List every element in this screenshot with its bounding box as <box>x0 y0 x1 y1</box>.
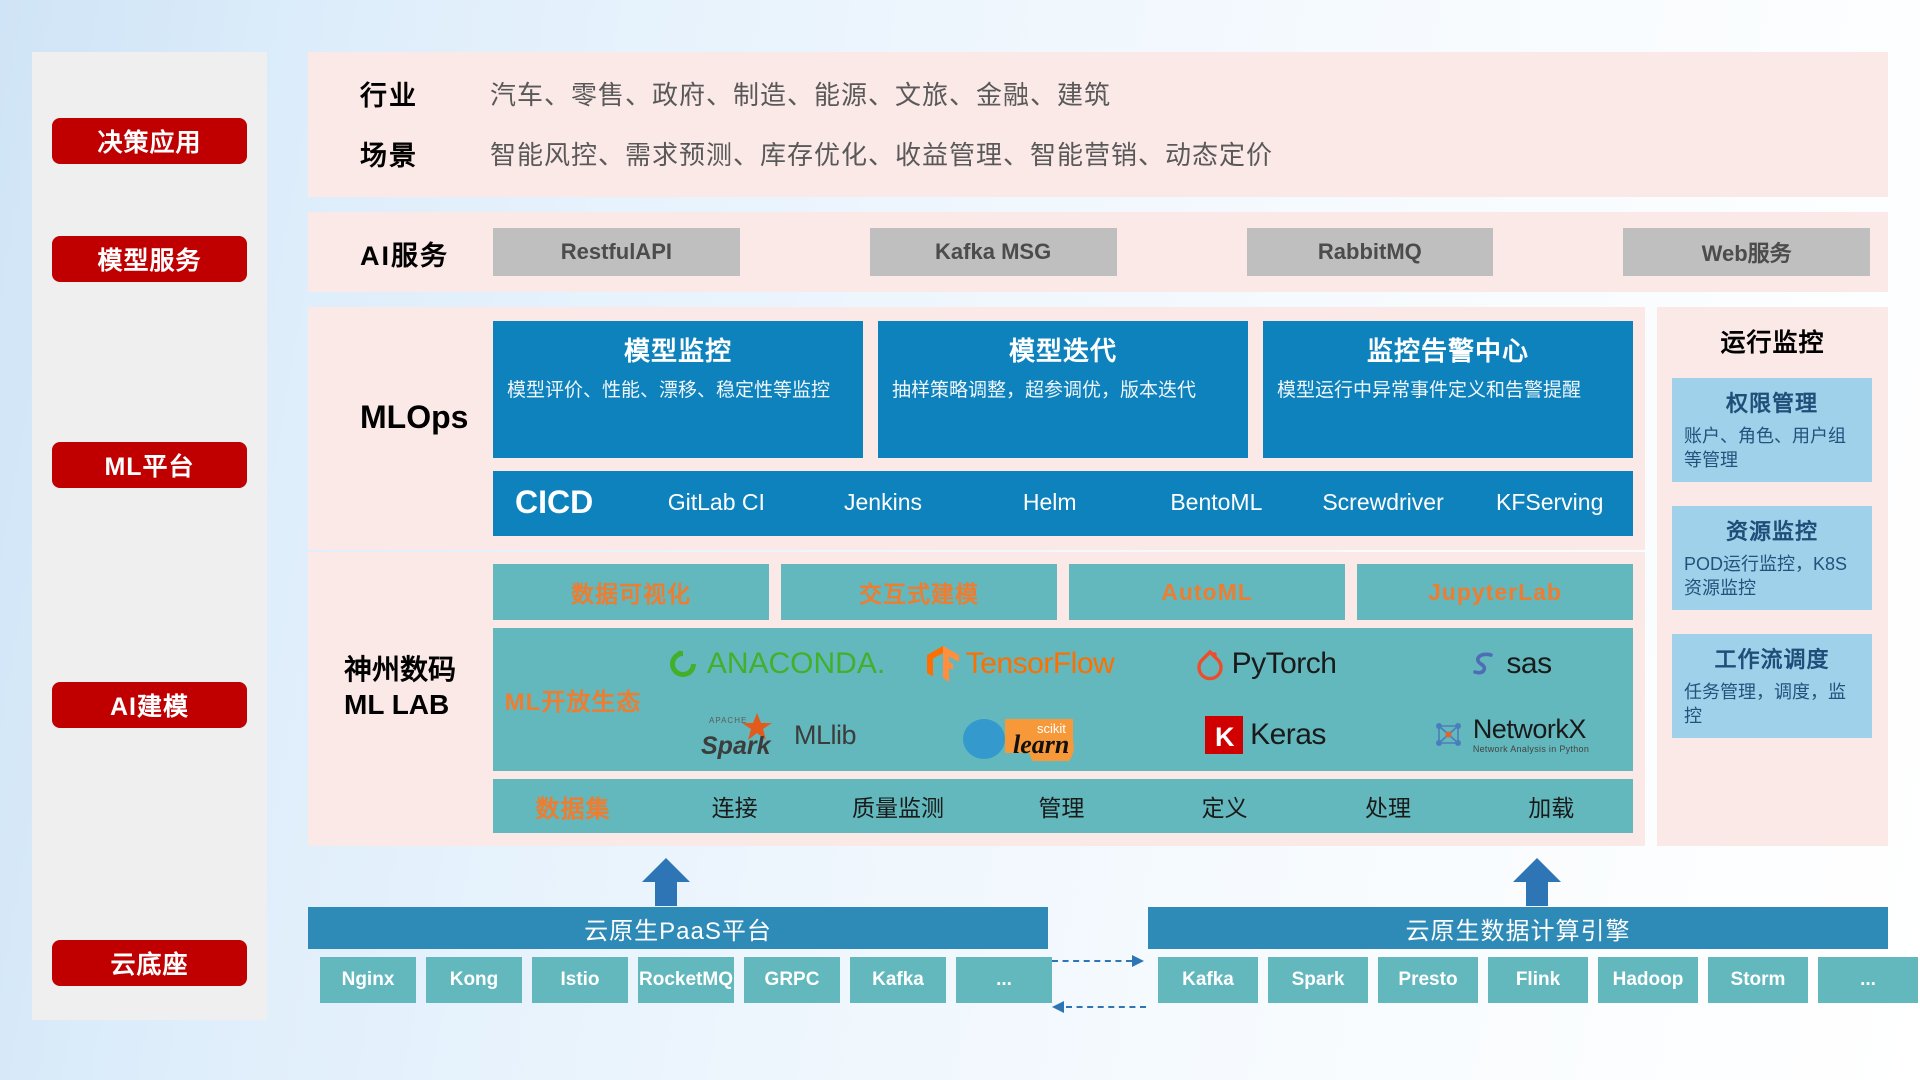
layer-label-text: 决策应用 <box>97 123 201 159</box>
data-compute-engine-bar[interactable]: 云原生数据计算引擎 <box>1148 907 1888 949</box>
monitor-card-resource[interactable]: 资源监控 POD运行监控，K8S资源监控 <box>1672 506 1872 610</box>
ml-lab-key: 神州数码 ML LAB <box>344 652 456 722</box>
dashed-arrow-head-right-icon <box>1132 955 1144 967</box>
monitor-card-desc: 任务管理，调度，监控 <box>1684 680 1860 729</box>
ai-service-box[interactable]: RestfulAPI <box>493 228 740 276</box>
upward-arrow-paas <box>642 858 690 906</box>
mlops-card-title: 模型监控 <box>507 331 849 368</box>
sas-icon <box>1469 649 1499 679</box>
layer-label-text: ML平台 <box>104 447 194 483</box>
ai-service-box[interactable]: Web服务 <box>1623 228 1870 276</box>
left-label-column: 决策应用 模型服务 ML平台 AI建模 云底座 <box>32 52 267 1020</box>
scenario-key: 场景 <box>360 134 490 173</box>
cicd-item[interactable]: KFServing <box>1466 471 1633 533</box>
networkx-icon <box>1432 718 1466 752</box>
cicd-label: CICD <box>493 471 633 533</box>
tool-box[interactable]: 交互式建模 <box>781 564 1057 620</box>
dataset-label: 数据集 <box>493 789 653 824</box>
engine-chip[interactable]: Storm <box>1708 957 1808 1003</box>
paas-chip[interactable]: RocketMQ <box>638 957 734 1003</box>
industry-line: 行业 汽车、零售、政府、制造、能源、文旅、金融、建筑 <box>360 74 1111 113</box>
engine-chip[interactable]: Kafka <box>1158 957 1258 1003</box>
engine-chip[interactable]: Spark <box>1268 957 1368 1003</box>
paas-chip[interactable]: GRPC <box>744 957 840 1003</box>
diagram-root: 决策应用 模型服务 ML平台 AI建模 云底座 行业 汽车、零售、政府、制造、能… <box>0 0 1920 1080</box>
paas-chip[interactable]: Kafka <box>850 957 946 1003</box>
dataset-item[interactable]: 处理 <box>1306 789 1469 823</box>
ai-service-panel: AI服务 RestfulAPI Kafka MSG RabbitMQ Web服务 <box>308 212 1888 292</box>
mlops-card-desc: 抽样策略调整，超参调优，版本迭代 <box>892 378 1234 404</box>
mlops-panel: MLOps 模型监控 模型评价、性能、漂移、稳定性等监控 模型迭代 抽样策略调整… <box>308 307 1645 550</box>
dashed-line-left <box>1066 1006 1146 1008</box>
engine-chip[interactable]: Hadoop <box>1598 957 1698 1003</box>
monitor-card-desc: POD运行监控，K8S资源监控 <box>1684 552 1860 601</box>
engine-chip[interactable]: Flink <box>1488 957 1588 1003</box>
pytorch-icon <box>1195 647 1225 681</box>
keras-icon: K <box>1205 716 1243 754</box>
cicd-bar: CICD GitLab CI Jenkins Helm BentoML Scre… <box>493 471 1633 536</box>
arrow-stem <box>655 878 677 906</box>
pytorch-logo-text: PyTorch <box>1232 647 1337 681</box>
arrow-stem <box>1526 878 1548 906</box>
cicd-item[interactable]: GitLab CI <box>633 471 800 533</box>
paas-chip[interactable]: ... <box>956 957 1052 1003</box>
paas-chip[interactable]: Nginx <box>320 957 416 1003</box>
ai-service-box[interactable]: RabbitMQ <box>1247 228 1494 276</box>
scenario-value: 智能风控、需求预测、库存优化、收益管理、智能营销、动态定价 <box>490 135 1273 172</box>
cicd-item[interactable]: Jenkins <box>800 471 967 533</box>
runtime-monitor-panel: 运行监控 权限管理 账户、角色、用户组等管理 资源监控 POD运行监控，K8S资… <box>1657 307 1888 846</box>
ai-service-box[interactable]: Kafka MSG <box>870 228 1117 276</box>
tensorflow-icon <box>927 646 959 682</box>
paas-chip-list: Nginx Kong Istio RocketMQ GRPC Kafka ... <box>320 957 1052 1003</box>
scikit-learn-logo: scikit learn <box>961 709 1081 761</box>
layer-label-cloud-base[interactable]: 云底座 <box>52 940 247 986</box>
monitor-card-permission[interactable]: 权限管理 账户、角色、用户组等管理 <box>1672 378 1872 482</box>
engine-chip-list: Kafka Spark Presto Flink Hadoop Storm ..… <box>1158 957 1918 1003</box>
sas-logo-text: sas <box>1506 647 1551 681</box>
industry-value: 汽车、零售、政府、制造、能源、文旅、金融、建筑 <box>490 75 1111 112</box>
ml-lab-panel: 神州数码 ML LAB 数据可视化 交互式建模 AutoML JupyterLa… <box>308 552 1645 846</box>
paas-chip[interactable]: Istio <box>532 957 628 1003</box>
dashed-arrow-head-left-icon <box>1052 1001 1064 1013</box>
monitor-card-workflow[interactable]: 工作流调度 任务管理，调度，监控 <box>1672 634 1872 738</box>
layer-label-ml-platform[interactable]: ML平台 <box>52 442 247 488</box>
ml-lab-key-line2: ML LAB <box>344 687 456 722</box>
networkx-logo-subtext: Network Analysis in Python <box>1473 745 1589 754</box>
dataset-item[interactable]: 连接 <box>653 789 816 823</box>
engine-chip[interactable]: ... <box>1818 957 1918 1003</box>
mlops-card-list: 模型监控 模型评价、性能、漂移、稳定性等监控 模型迭代 抽样策略调整，超参调优，… <box>493 321 1633 458</box>
svg-text:learn: learn <box>1013 730 1069 759</box>
dataset-item[interactable]: 加载 <box>1470 789 1633 823</box>
mlops-card[interactable]: 模型迭代 抽样策略调整，超参调优，版本迭代 <box>878 321 1248 458</box>
monitor-card-desc: 账户、角色、用户组等管理 <box>1684 424 1860 473</box>
layer-label-text: 模型服务 <box>97 241 201 277</box>
cicd-item[interactable]: Screwdriver <box>1300 471 1467 533</box>
networkx-logo-text: NetworkX <box>1473 716 1589 743</box>
monitor-card-title: 资源监控 <box>1684 514 1860 546</box>
ai-service-box-list: RestfulAPI Kafka MSG RabbitMQ Web服务 <box>493 228 1870 276</box>
layer-label-text: 云底座 <box>110 945 188 981</box>
ml-lab-key-line1: 神州数码 <box>344 652 456 687</box>
ml-lab-tool-list: 数据可视化 交互式建模 AutoML JupyterLab <box>493 564 1633 620</box>
layer-label-decision-app[interactable]: 决策应用 <box>52 118 247 164</box>
keras-logo-text: Keras <box>1250 718 1326 752</box>
engine-chip[interactable]: Presto <box>1378 957 1478 1003</box>
mlops-key: MLOps <box>360 399 468 436</box>
monitor-card-title: 工作流调度 <box>1684 642 1860 674</box>
monitor-card-title: 权限管理 <box>1684 386 1860 418</box>
layer-label-text: AI建模 <box>110 687 189 723</box>
ml-ecosystem-label: ML开放生态 <box>493 682 653 717</box>
dataset-bar: 数据集 连接 质量监测 管理 定义 处理 加载 <box>493 779 1633 833</box>
dataset-item[interactable]: 定义 <box>1143 789 1306 823</box>
mlops-card[interactable]: 模型监控 模型评价、性能、漂移、稳定性等监控 <box>493 321 863 458</box>
scenario-line: 场景 智能风控、需求预测、库存优化、收益管理、智能营销、动态定价 <box>360 134 1273 173</box>
tool-box[interactable]: AutoML <box>1069 564 1345 620</box>
runtime-monitor-title: 运行监控 <box>1657 307 1888 359</box>
anaconda-logo: ANACONDA. <box>666 647 885 681</box>
dataset-item[interactable]: 管理 <box>980 789 1143 823</box>
mlops-card-title: 模型迭代 <box>892 331 1234 368</box>
pytorch-logo: PyTorch <box>1195 647 1337 681</box>
mlops-card[interactable]: 监控告警中心 模型运行中异常事件定义和告警提醒 <box>1263 321 1633 458</box>
tensorflow-logo: TensorFlow <box>927 646 1114 682</box>
svg-text:Spark: Spark <box>701 732 772 760</box>
upward-arrow-engine <box>1513 858 1561 906</box>
cicd-item-list: GitLab CI Jenkins Helm BentoML Screwdriv… <box>633 471 1633 533</box>
spark-mllib-logo: APACHE Spark MLlib <box>695 710 856 760</box>
industry-scenario-panel: 行业 汽车、零售、政府、制造、能源、文旅、金融、建筑 场景 智能风控、需求预测、… <box>308 52 1888 197</box>
sas-logo: sas <box>1469 647 1551 681</box>
ai-service-key: AI服务 <box>360 234 449 273</box>
mllib-logo-text: MLlib <box>794 720 856 751</box>
anaconda-logo-text: ANACONDA. <box>707 647 885 681</box>
mlops-card-desc: 模型评价、性能、漂移、稳定性等监控 <box>507 378 849 404</box>
scikit-learn-icon: scikit learn <box>961 709 1081 761</box>
mlops-card-title: 监控告警中心 <box>1277 331 1619 368</box>
paas-chip[interactable]: Kong <box>426 957 522 1003</box>
tool-box[interactable]: JupyterLab <box>1357 564 1633 620</box>
dataset-item-list: 连接 质量监测 管理 定义 处理 加载 <box>653 789 1633 823</box>
ml-ecosystem-band: ML开放生态 ANACONDA. <box>493 628 1633 771</box>
keras-logo: K Keras <box>1205 716 1326 754</box>
networkx-logo: NetworkX Network Analysis in Python <box>1432 716 1589 754</box>
svg-text:K: K <box>1215 722 1235 752</box>
svg-text:APACHE: APACHE <box>709 716 747 725</box>
tool-box[interactable]: 数据可视化 <box>493 564 769 620</box>
anaconda-icon <box>666 647 700 681</box>
layer-label-model-service[interactable]: 模型服务 <box>52 236 247 282</box>
tensorflow-logo-text: TensorFlow <box>966 647 1114 681</box>
ml-ecosystem-logo-grid: ANACONDA. TensorFlow <box>653 628 1633 771</box>
cicd-item[interactable]: Helm <box>966 471 1133 533</box>
paas-platform-bar[interactable]: 云原生PaaS平台 <box>308 907 1048 949</box>
mlops-card-desc: 模型运行中异常事件定义和告警提醒 <box>1277 378 1619 404</box>
cicd-item[interactable]: BentoML <box>1133 471 1300 533</box>
dataset-item[interactable]: 质量监测 <box>816 789 979 823</box>
dashed-line-right <box>1052 960 1132 962</box>
spark-icon: APACHE Spark <box>695 710 787 760</box>
bidirectional-dashed-connector <box>1052 950 1146 1022</box>
industry-key: 行业 <box>360 74 490 113</box>
layer-label-ai-modeling[interactable]: AI建模 <box>52 682 247 728</box>
